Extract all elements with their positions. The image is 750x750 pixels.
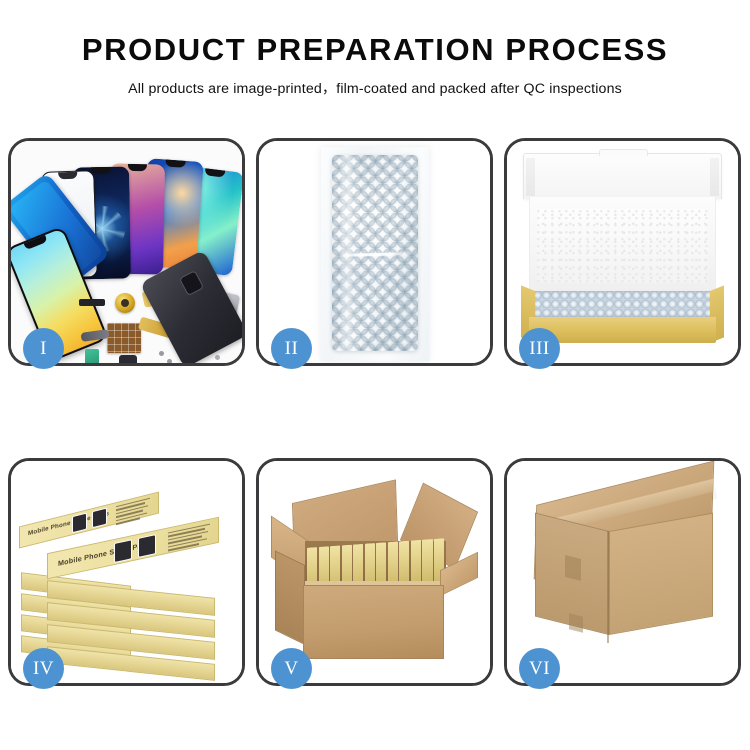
step-badge-5: V xyxy=(271,648,312,689)
process-step-panel-6: VI xyxy=(504,458,741,686)
bubble-wrap-pouch-icon xyxy=(332,155,418,351)
spare-part-speaker-icon xyxy=(119,355,137,363)
step-badge-4: IV xyxy=(23,648,64,689)
process-step-panel-3: III xyxy=(504,138,741,366)
spare-part-bar-icon xyxy=(79,299,105,306)
foam-lining-icon xyxy=(537,209,708,283)
spare-part-chip-grid-icon xyxy=(107,323,141,353)
spare-part-screw-icon xyxy=(167,359,172,363)
carton-right-panel-icon xyxy=(609,513,713,635)
step-badge-6: VI xyxy=(519,648,560,689)
process-step-panel-4: Mobile Phone Spare Parts Mobile Phone Sp… xyxy=(8,458,245,686)
step-badge-2: II xyxy=(271,328,312,369)
carton-edge-seam-icon xyxy=(607,531,609,643)
spare-part-battery-icon xyxy=(85,349,99,363)
process-step-panel-1: I xyxy=(8,138,245,366)
process-step-panel-5: V xyxy=(256,458,493,686)
process-step-panel-2: II xyxy=(256,138,493,366)
header: PRODUCT PREPARATION PROCESS All products… xyxy=(0,0,750,98)
bubble-wrapped-contents-icon xyxy=(533,291,712,317)
spare-part-screw-icon xyxy=(215,355,220,360)
carton-bottom-tab-icon xyxy=(569,613,583,632)
page-subtitle: All products are image-printed，film-coat… xyxy=(0,78,750,98)
page-title: PRODUCT PREPARATION PROCESS xyxy=(0,34,750,67)
process-step-grid: I II xyxy=(8,138,742,686)
spare-part-coil-icon xyxy=(115,293,135,313)
spare-part-screw-icon xyxy=(159,351,164,356)
step-badge-1: I xyxy=(23,328,64,369)
product-preparation-infographic: PRODUCT PREPARATION PROCESS All products… xyxy=(0,0,750,750)
carton-handle-tab-icon xyxy=(565,555,581,581)
step-badge-3: III xyxy=(519,328,560,369)
carton-front-panel-icon xyxy=(303,585,444,659)
box-lid-icon xyxy=(523,153,722,199)
carton-side-panel-icon xyxy=(275,550,305,645)
